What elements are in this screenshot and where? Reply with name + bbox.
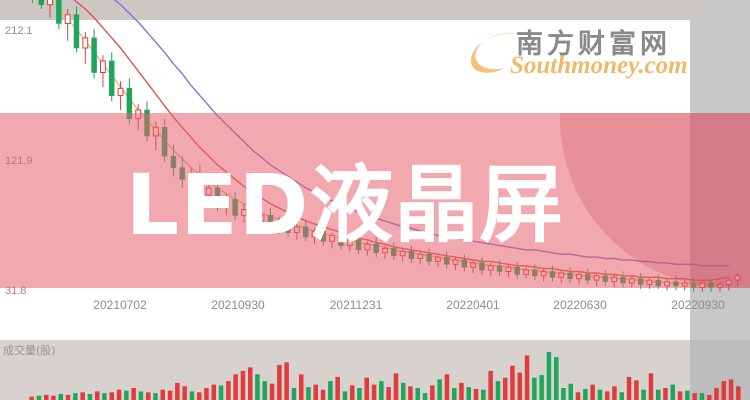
volume-bar (226, 381, 231, 400)
volume-bar (321, 390, 326, 400)
volume-bar (197, 392, 202, 400)
volume-bar (212, 385, 217, 400)
page-title: LED液晶屏 (0, 150, 690, 260)
volume-bar (394, 373, 399, 400)
volume-bar (306, 387, 311, 400)
volume-bar (153, 393, 158, 400)
volume-bar (445, 374, 450, 400)
chart-screenshot: 212.1 121.9 31.8 20210702 20210930 20211… (0, 0, 750, 400)
volume-bar (510, 366, 515, 400)
volume-bar (110, 392, 115, 400)
volume-bar (707, 395, 712, 400)
volume-bar (131, 388, 136, 400)
volume-bar (554, 357, 559, 400)
volume-bar (736, 386, 741, 400)
volume-bar (430, 385, 435, 400)
volume-bar (168, 391, 173, 400)
volume-bar (335, 377, 340, 400)
x-axis-label-3: 20211231 (330, 298, 383, 312)
volume-bar (95, 391, 100, 400)
volume-bar (44, 395, 49, 400)
x-axis-label-4: 20220401 (446, 298, 499, 312)
x-axis-label-2: 20210930 (211, 298, 264, 312)
volume-bar (357, 388, 362, 400)
volume-bar (66, 395, 71, 400)
volume-bar (656, 390, 661, 400)
volume-bar (503, 378, 508, 400)
y-axis-label-bottom: 31.8 (5, 285, 26, 297)
volume-bar (496, 381, 501, 400)
volume-bar (190, 391, 195, 400)
volume-bar (350, 385, 355, 400)
volume-bar (518, 373, 523, 400)
volume-bar (248, 367, 253, 400)
volume-bar (474, 389, 479, 400)
volume-bar (117, 390, 122, 400)
volume-bar (343, 391, 348, 400)
volume-bar (365, 378, 370, 400)
x-axis-label-1: 20210702 (93, 298, 146, 312)
volume-bar (284, 362, 289, 400)
volume-bar (80, 392, 85, 400)
volume-bar (146, 392, 151, 400)
volume-bar (219, 385, 224, 400)
volume-bar (255, 374, 260, 400)
watermark-en-text: Southmoney.com (510, 52, 688, 80)
volume-bar (386, 387, 391, 400)
volume-bar (452, 388, 457, 400)
volume-bar (277, 365, 282, 400)
volume-bar (124, 391, 129, 400)
volume-bar (685, 391, 690, 400)
volume-bar (714, 388, 719, 400)
volume-bar (481, 390, 486, 400)
volume-bar (51, 396, 56, 400)
volume-bar (423, 393, 428, 400)
volume-panel-title: 成交量(股) (3, 342, 56, 358)
volume-bar (627, 377, 632, 400)
volume-bar (102, 393, 107, 400)
volume-bar (263, 381, 268, 400)
volume-bar (539, 375, 544, 400)
volume-bar (437, 379, 442, 400)
volume-bar (569, 384, 574, 400)
volume-bar (532, 378, 537, 400)
volume-bar (649, 373, 654, 400)
volume-bar (292, 388, 297, 400)
volume-bar (561, 388, 566, 400)
y-axis-label-top: 212.1 (5, 25, 33, 37)
volume-bar (88, 394, 93, 400)
volume-bar (233, 374, 238, 400)
volume-bar (641, 390, 646, 400)
volume-bar (29, 397, 34, 400)
volume-bar (605, 391, 610, 400)
volume-bar (612, 386, 617, 400)
volume-bar (59, 394, 64, 400)
volume-bar (692, 393, 697, 400)
volume-bar (182, 386, 187, 400)
volume-bar (408, 386, 413, 400)
x-axis-label-6: 20220930 (671, 298, 724, 312)
volume-bar (576, 392, 581, 400)
volume-bar (241, 371, 246, 400)
volume-bar (671, 385, 676, 400)
volume-bar (299, 374, 304, 400)
volume-bar (204, 388, 209, 400)
volume-bar (37, 396, 42, 400)
volume-bar (590, 385, 595, 400)
volume-bar (314, 385, 319, 400)
volume-bar (416, 388, 421, 400)
volume-bar (700, 393, 705, 400)
volume-bar (678, 391, 683, 400)
volume-bar (547, 352, 552, 400)
x-axis-label-5: 20220630 (553, 298, 606, 312)
volume-bar (379, 381, 384, 400)
volume-bar (525, 355, 530, 400)
volume-bar (583, 389, 588, 400)
volume-bar (73, 393, 78, 400)
volume-bar (175, 383, 180, 400)
volume-bar (598, 390, 603, 400)
volume-bar (161, 390, 166, 400)
volume-bar (620, 392, 625, 400)
watermark: 南方财富网 Southmoney.com (470, 22, 685, 84)
volume-bar (372, 385, 377, 400)
volume-bar (722, 381, 727, 400)
volume-bar (467, 387, 472, 400)
volume-bar (328, 381, 333, 400)
volume-bar (270, 384, 275, 400)
volume-bar (488, 371, 493, 400)
volume-bar (663, 388, 668, 400)
volume-bar (634, 380, 639, 400)
volume-bar (729, 379, 734, 400)
volume-bar (401, 383, 406, 400)
volume-bar (459, 383, 464, 400)
volume-bar (139, 391, 144, 400)
